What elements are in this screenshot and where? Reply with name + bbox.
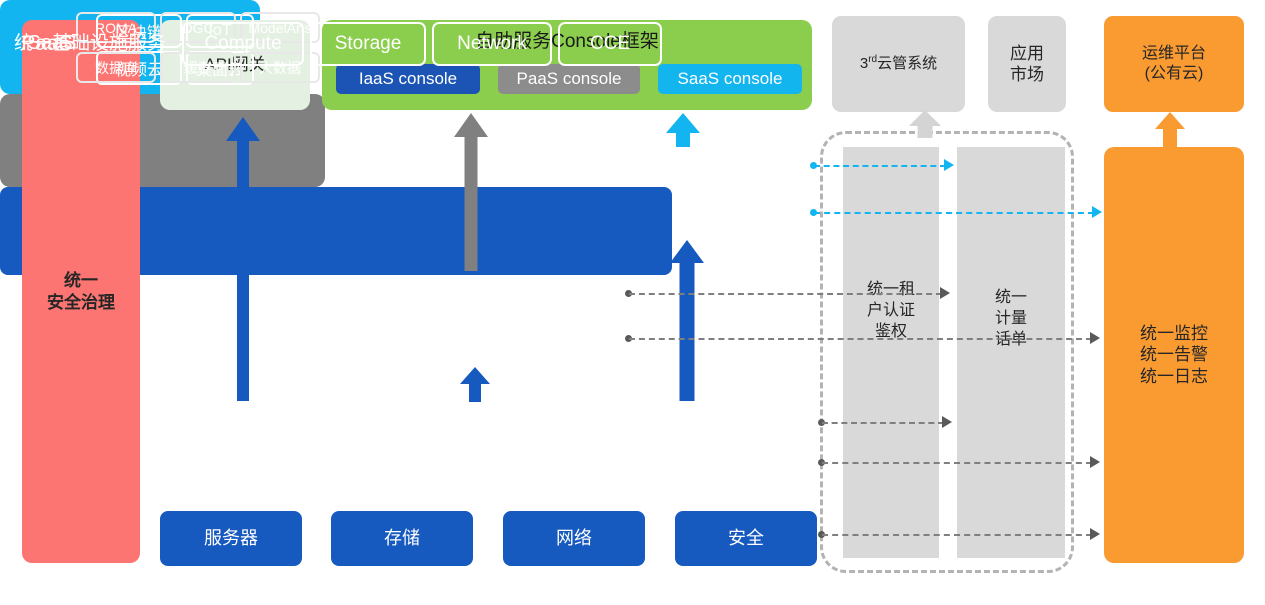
connector-paas-to-tenant-auth — [629, 293, 942, 295]
arrowhead-hardware-to-ops-panel — [1090, 528, 1100, 540]
arrowhead-paas-to-tenant-auth — [940, 287, 950, 299]
shared-column-tenant-auth — [843, 147, 939, 558]
arrowhead-infra-to-tenant-auth — [942, 416, 952, 428]
ops-platform-public-cloud-box: 运维平台(公有云) — [1104, 16, 1244, 112]
arrow-infra-to-api-gateway — [226, 117, 260, 401]
shared-column-metering-label: 统一计量话单 — [957, 288, 1065, 350]
arrow-infra-to-paas — [460, 367, 490, 402]
arrowhead-saas-to-tenant-auth — [944, 159, 954, 171]
security-governance-label: 统一安全治理 — [47, 270, 115, 313]
infra-chip-network[interactable]: Network — [432, 22, 552, 66]
connector-paas-to-ops-panel — [629, 338, 1092, 340]
unified-monitoring-panel: 统一监控统一告警统一日志 — [1104, 147, 1244, 563]
arrow-infra-to-saas — [670, 240, 704, 401]
paas-console-chip[interactable]: PaaS console — [498, 64, 640, 94]
iaas-console-chip[interactable]: IaaS console — [336, 64, 480, 94]
architecture-diagram: 统一安全治理 API网关 自助服务Console框架 IaaS console … — [0, 0, 1265, 605]
ops-platform-public-cloud-label: 运维平台(公有云) — [1142, 44, 1206, 84]
paas-chip-database[interactable]: 数据库 — [76, 52, 156, 83]
arrowhead-saas-to-ops-panel — [1092, 206, 1102, 218]
infra-chip-cce[interactable]: CCE — [558, 22, 662, 66]
connector-infra-to-ops-panel — [822, 462, 1092, 464]
connector-infra-to-tenant-auth — [822, 422, 944, 424]
third-party-cloud-mgmt-label: 3rd云管系统 — [860, 54, 937, 74]
hardware-box-server: 服务器 — [160, 511, 302, 566]
infra-chip-storage[interactable]: Storage — [310, 22, 426, 66]
arrow-paas-to-paas-console — [454, 113, 488, 271]
saas-console-chip[interactable]: SaaS console — [658, 64, 802, 94]
unified-monitoring-label: 统一监控统一告警统一日志 — [1140, 323, 1208, 387]
connector-hardware-to-ops-panel — [822, 534, 1092, 536]
app-market-box: 应用市场 — [988, 16, 1066, 112]
connector-saas-to-tenant-auth — [814, 165, 946, 167]
third-party-cloud-mgmt-box: 3rd云管系统 — [832, 16, 965, 112]
arrow-saas-to-saas-console — [666, 113, 700, 147]
security-governance-bar: 统一安全治理 — [22, 20, 140, 563]
shared-column-metering — [957, 147, 1065, 558]
hardware-box-network: 网络 — [503, 511, 645, 566]
hardware-box-security: 安全 — [675, 511, 817, 566]
app-market-label: 应用市场 — [1010, 43, 1044, 86]
arrow-shared-to-third-cloud — [908, 110, 942, 138]
unified-infrastructure-label: 统一基础设施服务 — [14, 28, 166, 55]
hardware-box-storage: 存储 — [331, 511, 473, 566]
connector-saas-to-ops-panel — [814, 212, 1094, 214]
arrowhead-infra-to-ops-panel — [1090, 456, 1100, 468]
arrow-ops-panel-to-ops-platform — [1155, 112, 1185, 148]
infra-chip-compute[interactable]: Compute — [182, 22, 304, 66]
shared-column-tenant-auth-label: 统一租户认证鉴权 — [843, 280, 939, 342]
arrowhead-paas-to-ops-panel — [1090, 332, 1100, 344]
